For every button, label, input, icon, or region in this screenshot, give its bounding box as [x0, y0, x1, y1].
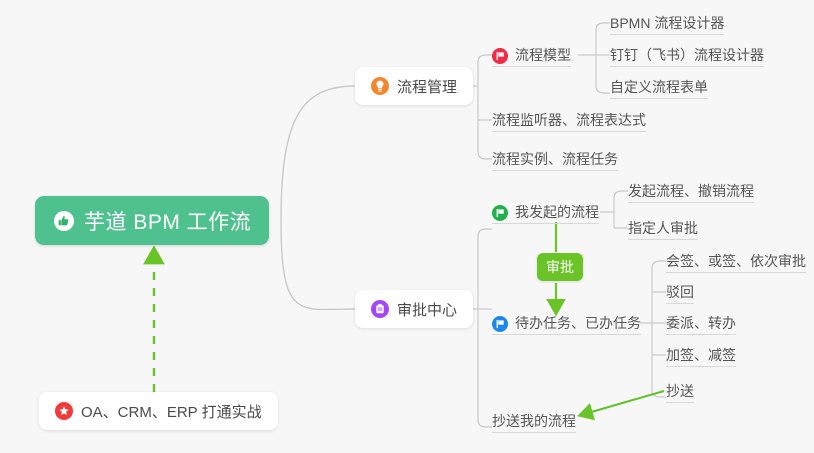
node-todo-done-tasks[interactable]: 待办任务、已办任务	[492, 311, 641, 335]
leaf-label: 钉钉（飞书）流程设计器	[610, 46, 764, 64]
node-process-instance[interactable]: 流程实例、流程任务	[492, 147, 618, 171]
leaf-cc[interactable]: 抄送	[666, 379, 694, 403]
node-process-listener[interactable]: 流程监听器、流程表达式	[492, 108, 646, 132]
node-my-started-process[interactable]: 我发起的流程	[492, 200, 599, 224]
mindmap-canvas: 芋道 BPM 工作流 流程管理 流程模型 BPMN 流程设计器 钉钉（飞书）流程	[0, 0, 814, 453]
leaf-delegate-transfer[interactable]: 委派、转办	[666, 311, 736, 335]
node-label-process-instance: 流程实例、流程任务	[492, 150, 618, 168]
branch-node-process-management[interactable]: 流程管理	[355, 67, 473, 105]
flag-green-icon	[492, 205, 508, 221]
node-label-my-started-process: 我发起的流程	[515, 203, 599, 221]
branch-label-approval-center: 审批中心	[397, 299, 457, 320]
leaf-reject[interactable]: 驳回	[666, 280, 694, 304]
node-label-process-listener: 流程监听器、流程表达式	[492, 111, 646, 129]
tag-approval[interactable]: 审批	[537, 253, 583, 281]
leaf-dingtalk-feishu-designer[interactable]: 钉钉（飞书）流程设计器	[610, 43, 764, 67]
leaf-countersign[interactable]: 会签、或签、依次审批	[666, 249, 806, 273]
lightbulb-icon	[371, 77, 389, 95]
leaf-bpmn-designer[interactable]: BPMN 流程设计器	[610, 11, 724, 35]
leaf-label: BPMN 流程设计器	[610, 14, 724, 32]
tag-label: 审批	[546, 257, 574, 277]
leaf-custom-process-form[interactable]: 自定义流程表单	[610, 75, 708, 99]
note-node-integration[interactable]: OA、CRM、ERP 打通实战	[39, 392, 278, 430]
leaf-label: 发起流程、撤销流程	[628, 182, 754, 200]
root-node[interactable]: 芋道 BPM 工作流	[35, 196, 269, 245]
clipboard-icon	[371, 300, 389, 318]
node-cc-my-process[interactable]: 抄送我的流程	[492, 409, 576, 433]
flag-blue-icon	[492, 316, 508, 332]
leaf-label: 委派、转办	[666, 314, 736, 332]
node-label-process-model: 流程模型	[515, 46, 571, 64]
note-label: OA、CRM、ERP 打通实战	[81, 401, 262, 422]
branch-node-approval-center[interactable]: 审批中心	[355, 290, 473, 328]
leaf-label: 抄送	[666, 382, 694, 400]
thumbs-up-icon	[53, 210, 75, 232]
leaf-label: 指定人审批	[628, 219, 698, 237]
leaf-label: 驳回	[666, 283, 694, 301]
leaf-label: 自定义流程表单	[610, 78, 708, 96]
node-label-cc-my-process: 抄送我的流程	[492, 412, 576, 430]
node-label-todo-done-tasks: 待办任务、已办任务	[515, 314, 641, 332]
node-process-model[interactable]: 流程模型	[492, 43, 571, 67]
leaf-start-cancel-process[interactable]: 发起流程、撤销流程	[628, 179, 754, 203]
branch-label-process-management: 流程管理	[397, 76, 457, 97]
leaf-label: 会签、或签、依次审批	[666, 252, 806, 270]
leaf-assigned-approver[interactable]: 指定人审批	[628, 216, 698, 240]
leaf-label: 加签、减签	[666, 346, 736, 364]
star-icon	[55, 402, 73, 420]
root-label: 芋道 BPM 工作流	[84, 206, 251, 236]
flag-red-icon	[492, 48, 508, 64]
leaf-add-remove-sign[interactable]: 加签、减签	[666, 343, 736, 367]
